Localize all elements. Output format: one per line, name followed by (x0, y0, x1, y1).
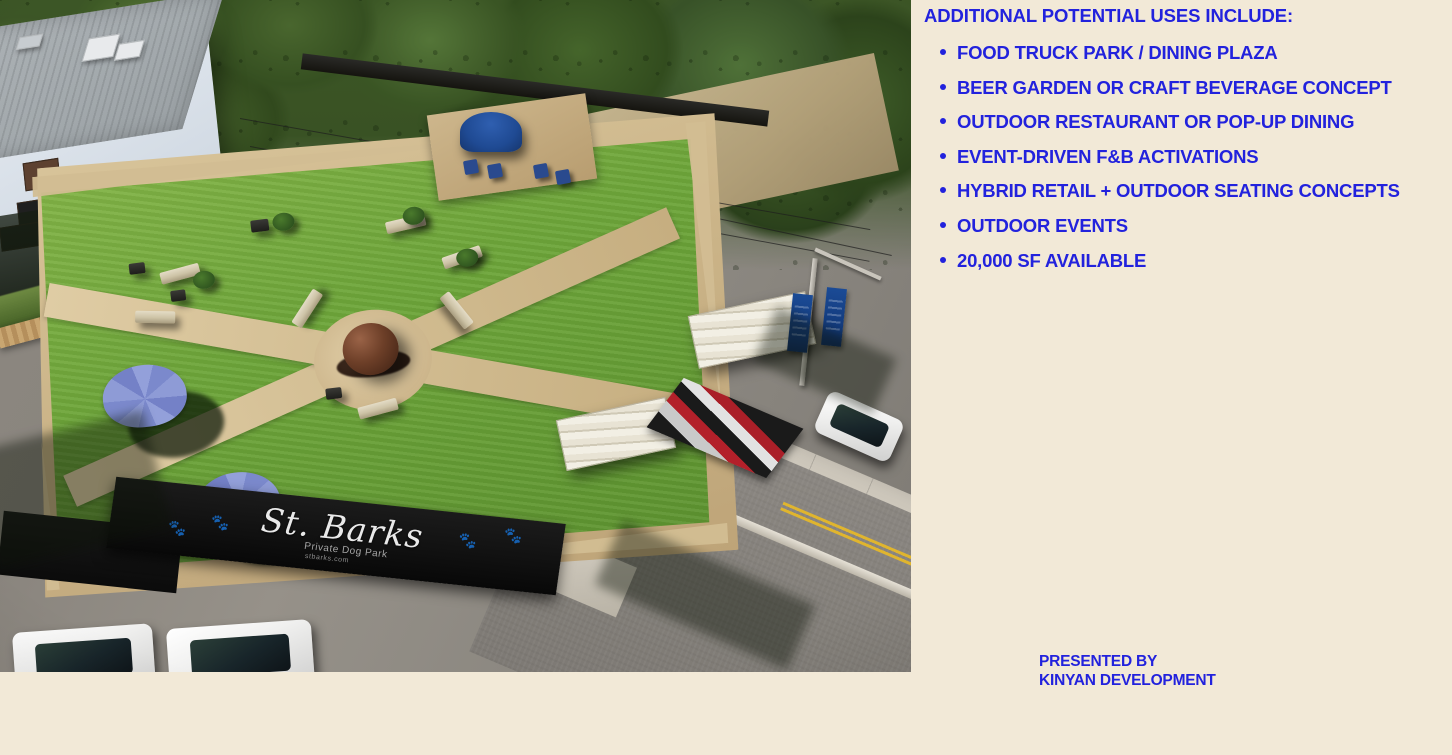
patio-chair (555, 169, 571, 185)
paw-print-icon: 🐾 (502, 526, 523, 546)
presented-by-label: PRESENTED BY (1039, 653, 1216, 672)
bullet-icon (940, 118, 946, 124)
list-item-label: EVENT-DRIVEN F&B ACTIVATIONS (957, 146, 1258, 167)
slide-text-pane: ADDITIONAL POTENTIAL USES INCLUDE: FOOD … (911, 0, 1452, 755)
bullet-icon (940, 222, 946, 228)
presented-by-name: KINYAN DEVELOPMENT (1039, 672, 1216, 691)
list-item: BEER GARDEN OR CRAFT BEVERAGE CONCEPT (957, 71, 1400, 106)
list-item: 20,000 SF AVAILABLE (957, 244, 1400, 279)
bullet-icon (940, 187, 946, 193)
blue-canopy-tent (460, 112, 522, 152)
roof-hvac-unit (114, 40, 145, 61)
list-item-label: 20,000 SF AVAILABLE (957, 250, 1146, 271)
patio-chair (463, 159, 479, 175)
park-bench (128, 262, 145, 275)
list-item-label: OUTDOOR RESTAURANT OR POP-UP DINING (957, 111, 1354, 132)
list-item: OUTDOOR RESTAURANT OR POP-UP DINING (957, 105, 1400, 140)
list-item: EVENT-DRIVEN F&B ACTIVATIONS (957, 140, 1400, 175)
list-item-label: OUTDOOR EVENTS (957, 215, 1128, 236)
list-item-label: FOOD TRUCK PARK / DINING PLAZA (957, 42, 1277, 63)
paw-print-icon: 🐾 (210, 513, 231, 533)
presentation-slide: 🐾 🐾 🐾 🐾 St. Barks Private Dog Park stbar… (0, 0, 1452, 755)
potential-uses-list: FOOD TRUCK PARK / DINING PLAZA BEER GARD… (929, 36, 1400, 278)
patio-chair (487, 163, 503, 179)
bullet-icon (940, 49, 946, 55)
aerial-property-photo: 🐾 🐾 🐾 🐾 St. Barks Private Dog Park stbar… (0, 0, 911, 672)
paw-print-icon: 🐾 (457, 531, 478, 551)
bullet-icon (940, 257, 946, 263)
roof-vent (16, 34, 44, 51)
list-item-label: BEER GARDEN OR CRAFT BEVERAGE CONCEPT (957, 77, 1392, 98)
bullet-icon (940, 153, 946, 159)
presented-by-block: PRESENTED BY KINYAN DEVELOPMENT (1039, 653, 1216, 690)
list-item: FOOD TRUCK PARK / DINING PLAZA (957, 36, 1400, 71)
park-bench (325, 387, 342, 400)
list-item: OUTDOOR EVENTS (957, 209, 1400, 244)
list-item-label: HYBRID RETAIL + OUTDOOR SEATING CONCEPTS (957, 180, 1400, 201)
car-windshield (190, 634, 291, 672)
park-bench (170, 289, 186, 302)
list-item: HYBRID RETAIL + OUTDOOR SEATING CONCEPTS (957, 174, 1400, 209)
patio-chair (533, 163, 549, 179)
parked-car (166, 619, 315, 672)
parked-car (12, 623, 156, 672)
park-bench (250, 219, 269, 233)
bullet-icon (940, 84, 946, 90)
car-windshield (35, 638, 132, 672)
page-title: ADDITIONAL POTENTIAL USES INCLUDE: (924, 5, 1293, 27)
park-bench (135, 311, 175, 324)
